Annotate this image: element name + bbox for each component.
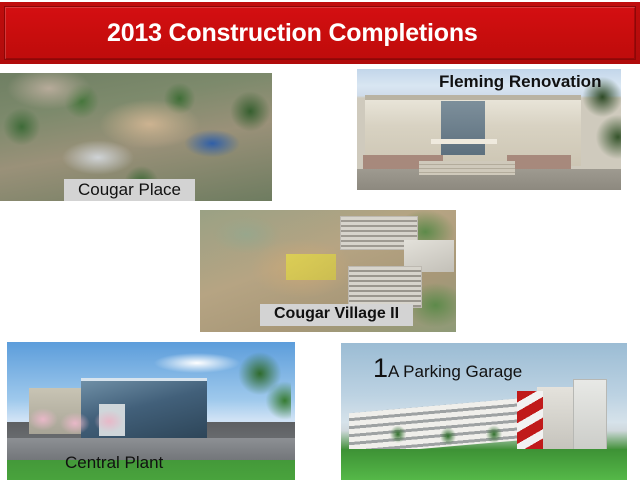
photo-caption-parking-garage-lead: 1 [373,355,388,382]
garage-elevator-tower [573,379,607,453]
entrance-canopy [431,139,497,144]
tree-foliage [213,352,291,442]
photo-caption-cougar-place: Cougar Place [64,179,195,201]
photo-caption-cougar-village: Cougar Village II [260,304,413,326]
photo-parking-garage[interactable]: 1 A Parking Garage [341,343,627,480]
photo-cougar-village-2[interactable]: Cougar Village II [200,210,456,332]
photo-caption-fleming: Fleming Renovation [439,73,601,91]
tree-3 [483,423,505,451]
slide-title-banner: 2013 Construction Completions [0,2,640,64]
entrance-glass-wall [441,101,485,155]
construction-foundation-pad [286,254,336,280]
tree-2 [437,425,459,453]
garage-stair-tower [517,391,543,451]
residence-hall-south [348,266,422,308]
photo-caption-parking-garage: 1 A Parking Garage [373,355,522,382]
photo-central-plant[interactable]: Central Plant [7,342,295,480]
photo-caption-parking-garage-rest: A Parking Garage [388,363,522,381]
entrance-steps [419,161,515,175]
slide-title-banner-inner: 2013 Construction Completions [4,6,636,60]
photo-cougar-place[interactable]: Cougar Place [0,73,272,201]
blossom-tree-3 [89,406,129,440]
tree-1 [387,423,409,451]
photo-fleming-renovation[interactable]: Fleming Renovation [357,69,621,190]
foreground-lawn [341,449,627,480]
page-title: 2013 Construction Completions [5,21,478,46]
photo-caption-central-plant: Central Plant [65,454,163,472]
